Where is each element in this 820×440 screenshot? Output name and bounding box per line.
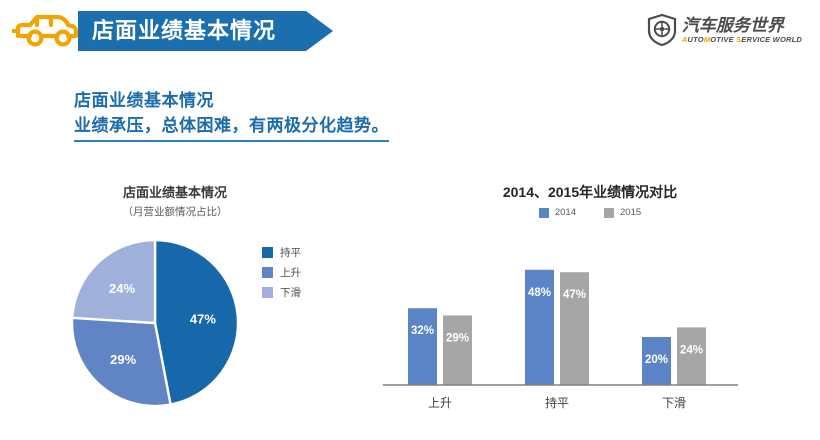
pie-slice-label: 24%: [109, 281, 135, 296]
bar-legend-item-2014[interactable]: 2014: [539, 207, 576, 218]
legend-swatch-icon: [262, 287, 273, 298]
bar-legend-label: 2014: [555, 207, 576, 218]
bar-value-label: 29%: [446, 332, 469, 344]
pie-legend-label: 持平: [280, 245, 301, 260]
heading-line-1: 店面业绩基本情况: [74, 88, 554, 113]
bar-value-label: 48%: [528, 287, 551, 299]
heading-line-2: 业绩承压，总体困难，有两极分化趋势。: [74, 113, 389, 142]
bar-legend-label: 2015: [620, 207, 641, 218]
legend-swatch-icon: [262, 247, 273, 258]
pie-slice-label: 29%: [110, 352, 136, 367]
pie-chart-title: 店面业绩基本情况: [40, 182, 310, 201]
legend-swatch-icon: [604, 208, 614, 218]
pie-legend-item-下滑[interactable]: 下滑: [262, 282, 301, 302]
bar-value-label: 32%: [411, 325, 434, 337]
shield-wheel-icon: [647, 14, 677, 46]
page-header: 店面业绩基本情况 汽车服务世界 AUTOMOTIVE SERVICE WORLD: [0, 0, 820, 62]
bar-2014-上升[interactable]: [408, 308, 437, 385]
car-icon: [10, 12, 80, 50]
logo-english-text: AUTOMOTIVE SERVICE WORLD: [682, 35, 802, 45]
bar-legend-item-2015[interactable]: 2015: [604, 207, 641, 218]
bar-chart-title: 2014、2015年业绩情况对比: [380, 182, 800, 202]
brand-logo: 汽车服务世界 AUTOMOTIVE SERVICE WORLD: [647, 12, 802, 48]
bar-value-label: 24%: [680, 344, 703, 356]
bar-chart-panel: 2014、2015年业绩情况对比 20142015 32%29%48%47%20…: [380, 178, 800, 430]
x-axis-category-下滑: 下滑: [662, 396, 686, 410]
pie-chart-graphic: 47%29%24%: [70, 238, 240, 408]
pie-legend-label: 上升: [280, 265, 301, 280]
bar-value-label: 47%: [563, 289, 586, 301]
legend-swatch-icon: [539, 208, 549, 218]
x-axis-category-上升: 上升: [428, 396, 452, 410]
pie-chart-legend: 持平上升下滑: [262, 242, 301, 302]
pie-chart-panel: 店面业绩基本情况 （月营业额情况占比） 47%29%24% 持平上升下滑: [40, 178, 370, 428]
bar-value-label: 20%: [645, 354, 668, 366]
logo-chinese-text: 汽车服务世界: [682, 16, 802, 35]
pie-slice-label: 47%: [190, 311, 216, 326]
bar-2015-上升[interactable]: [443, 315, 472, 385]
bar-chart-legend: 20142015: [380, 207, 800, 218]
banner-title: 店面业绩基本情况: [92, 17, 307, 45]
pie-legend-item-持平[interactable]: 持平: [262, 242, 301, 262]
pie-legend-label: 下滑: [280, 285, 301, 300]
pie-legend-item-上升[interactable]: 上升: [262, 262, 301, 282]
x-axis-category-持平: 持平: [545, 395, 569, 410]
bar-chart-graphic: 32%29%48%47%20%24% 上升持平下滑: [380, 228, 800, 428]
legend-swatch-icon: [262, 267, 273, 278]
section-headings: 店面业绩基本情况 业绩承压，总体困难，有两极分化趋势。: [74, 88, 554, 142]
pie-chart-subtitle: （月营业额情况占比）: [40, 204, 310, 219]
